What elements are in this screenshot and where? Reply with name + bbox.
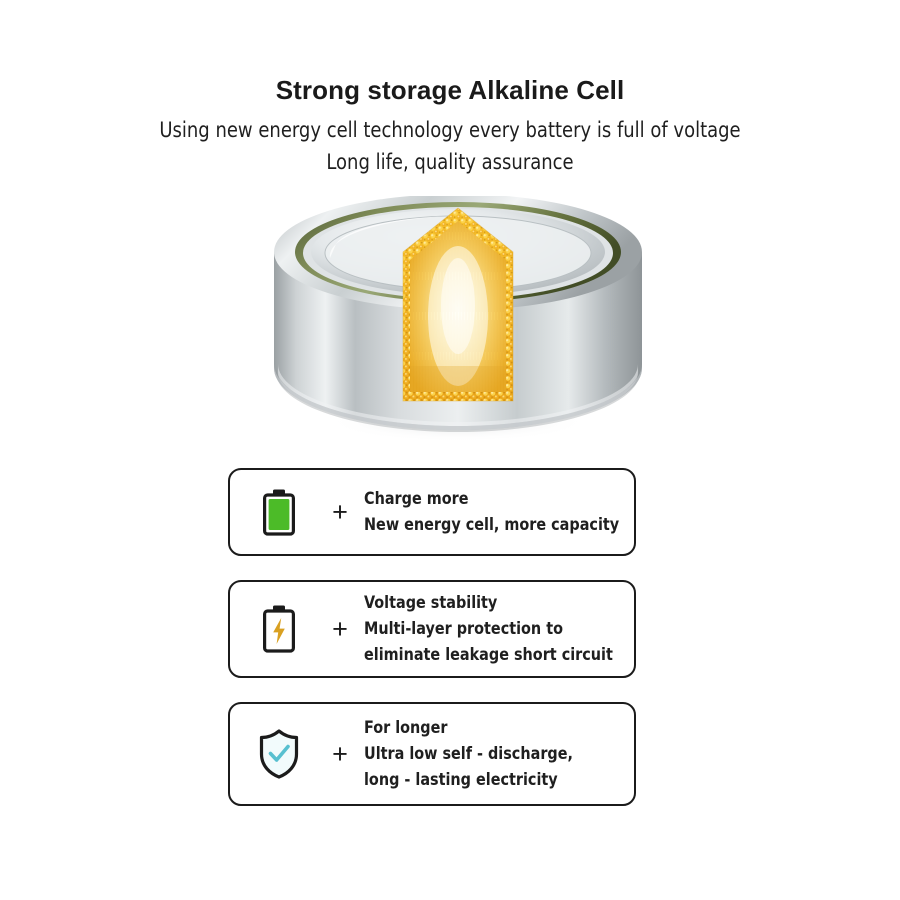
feature-line: New energy cell, more capacity: [364, 515, 619, 535]
battery-bolt-icon: [242, 604, 316, 654]
feature-line: Voltage stability: [364, 593, 614, 613]
battery-cutaway-illustration: [258, 196, 658, 458]
feature-line: long - lasting electricity: [364, 770, 614, 790]
feature-card-text: For longer Ultra low self - discharge, l…: [364, 718, 622, 790]
feature-line: eliminate leakage short circuit: [364, 645, 614, 665]
feature-card-charge-more[interactable]: + Charge more New energy cell, more capa…: [228, 468, 636, 556]
shield-check-icon: [242, 728, 316, 780]
feature-card-text: Voltage stability Multi-layer protection…: [364, 593, 622, 665]
subtitle-line-1: Using new energy cell technology every b…: [32, 116, 869, 146]
feature-line: Multi-layer protection to: [364, 619, 614, 639]
plus-separator: +: [316, 499, 364, 526]
feature-line: Ultra low self - discharge,: [364, 744, 614, 764]
feature-card-for-longer[interactable]: + For longer Ultra low self - discharge,…: [228, 702, 636, 806]
header: Strong storage Alkaline Cell Using new e…: [0, 74, 900, 178]
battery-full-icon: [242, 488, 316, 536]
product-infographic: Strong storage Alkaline Cell Using new e…: [0, 0, 900, 900]
feature-line: Charge more: [364, 489, 619, 509]
feature-line: For longer: [364, 718, 614, 738]
plus-separator: +: [316, 616, 364, 643]
feature-card-voltage-stability[interactable]: + Voltage stability Multi-layer protecti…: [228, 580, 636, 678]
page-title: Strong storage Alkaline Cell: [0, 74, 900, 106]
plus-separator: +: [316, 741, 364, 768]
feature-card-list: + Charge more New energy cell, more capa…: [228, 468, 636, 806]
subtitle-line-2: Long life, quality assurance: [32, 148, 869, 178]
feature-card-text: Charge more New energy cell, more capaci…: [364, 489, 627, 535]
